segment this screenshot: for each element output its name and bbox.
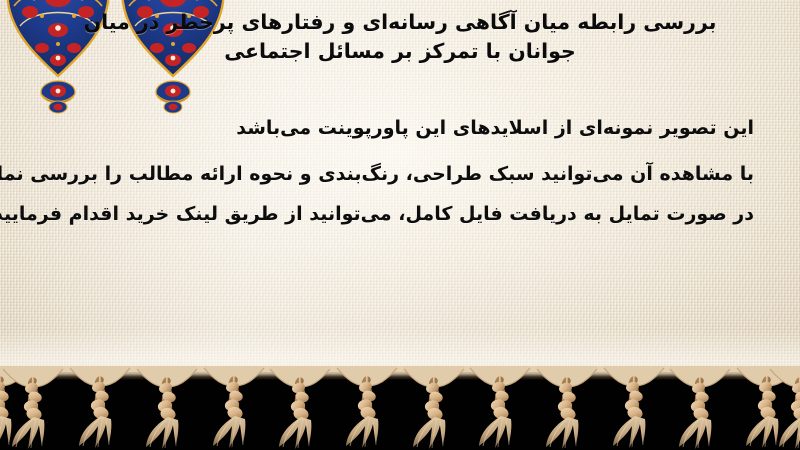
slide-title: بررسی رابطه میان آگاهی رسانه‌ای و رفتاره…	[0, 8, 800, 66]
bottom-black-band	[0, 372, 800, 450]
slide-body-text: این تصویر نمونه‌ای از اسلایدهای این پاور…	[44, 108, 754, 234]
slide-canvas: بررسی رابطه میان آگاهی رسانه‌ای و رفتاره…	[0, 0, 800, 450]
slide-body-line-3: در صورت تمایل به دریافت فایل کامل، می‌تو…	[44, 194, 754, 234]
slide-title-line-2: جوانان با تمرکز بر مسائل اجتماعی	[0, 37, 800, 66]
slide-body-line-2: با مشاهده آن می‌توانید سبک طراحی، رنگ‌بن…	[44, 154, 754, 194]
slide-body-line-1: این تصویر نمونه‌ای از اسلایدهای این پاور…	[44, 108, 754, 148]
slide-title-line-1: بررسی رابطه میان آگاهی رسانه‌ای و رفتاره…	[0, 8, 800, 37]
